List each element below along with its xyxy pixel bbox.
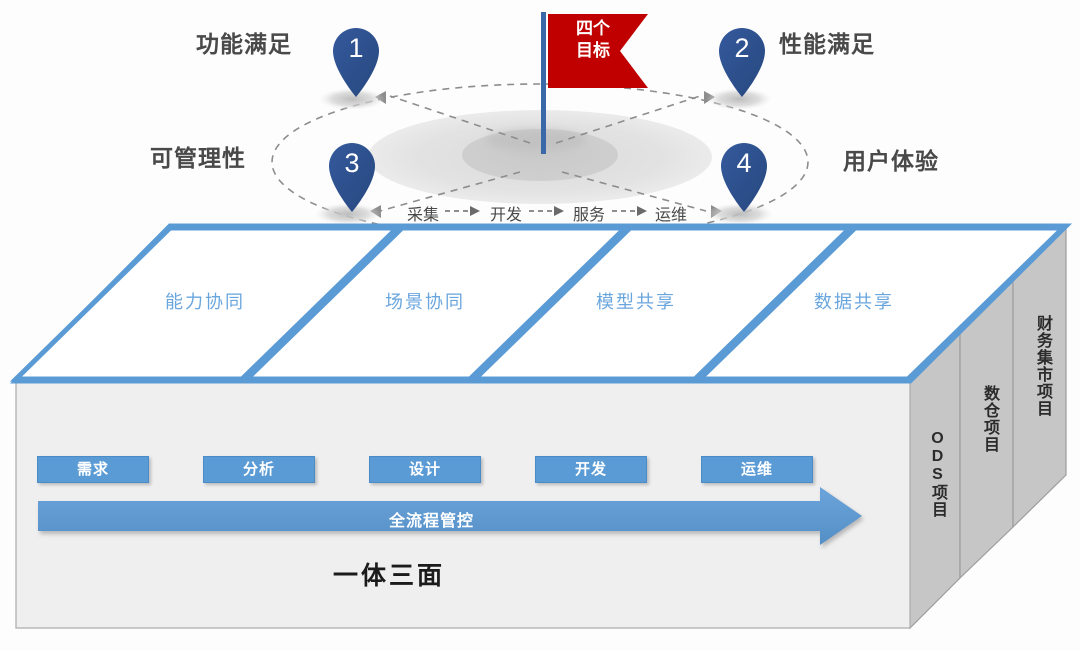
top-face-label-4[interactable]: 数据共享 — [814, 288, 894, 314]
lifecycle-arrowhead-2 — [554, 206, 564, 216]
goal-label-4: 用户体验 — [843, 142, 939, 176]
flag-label-line1: 四个 — [562, 18, 624, 39]
side-project-label-dw[interactable]: 数仓项目 — [977, 385, 1001, 453]
lifecycle-step-1: 采集 — [407, 201, 439, 225]
flag-label-line2: 目标 — [562, 40, 624, 61]
lifecycle-arrowhead-3 — [637, 206, 647, 216]
stage-button-4[interactable]: 开发 — [535, 456, 647, 483]
flag-pole — [541, 12, 546, 154]
lifecycle-step-3: 服务 — [573, 201, 605, 225]
top-face-label-2[interactable]: 场景协同 — [385, 288, 465, 314]
diagram-vector-layer — [0, 0, 1080, 651]
stage-button-1[interactable]: 需求 — [37, 456, 149, 483]
diagram-canvas: 功能满足 性能满足 可管理性 用户体验 1 2 3 4 四个 目标 采集 开发 … — [0, 0, 1080, 651]
central-platform — [368, 110, 712, 204]
goal-label-1: 功能满足 — [196, 25, 292, 59]
lifecycle-step-2: 开发 — [490, 201, 522, 225]
side-project-label-finance[interactable]: 财务集市项目 — [1030, 315, 1054, 417]
diagram-bottom-title: 一体三面 — [333, 556, 445, 592]
pin-number-2[interactable]: 2 — [719, 33, 765, 64]
goal-label-3: 可管理性 — [150, 139, 246, 173]
top-face-label-1[interactable]: 能力协同 — [165, 288, 245, 314]
stage-button-5[interactable]: 运维 — [701, 456, 813, 483]
platform-core-blur — [486, 129, 586, 151]
stage-button-3[interactable]: 设计 — [369, 456, 481, 483]
top-face-label-3[interactable]: 模型共享 — [596, 288, 676, 314]
process-arrow-label: 全流程管控 — [389, 507, 474, 531]
pin-number-3[interactable]: 3 — [329, 148, 375, 179]
lifecycle-arrowhead-1 — [470, 206, 480, 216]
pin-number-1[interactable]: 1 — [333, 33, 379, 64]
goal-label-2: 性能满足 — [779, 25, 875, 59]
side-project-label-ods[interactable]: ODS项目 — [925, 430, 949, 518]
pin-number-4[interactable]: 4 — [721, 148, 767, 179]
lifecycle-step-4: 运维 — [655, 201, 687, 225]
stage-button-2[interactable]: 分析 — [203, 456, 315, 483]
